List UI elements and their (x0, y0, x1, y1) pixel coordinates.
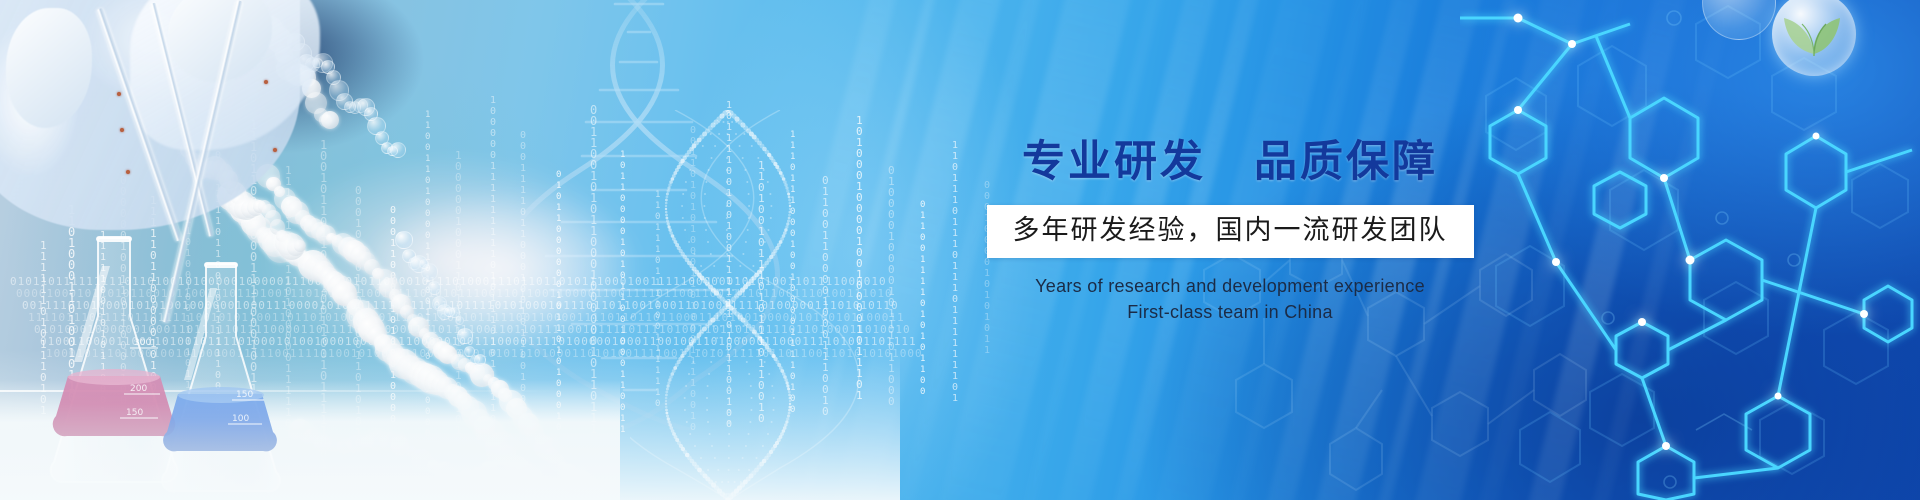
pipette-bead (273, 148, 277, 152)
bubble (395, 231, 412, 248)
blue-flask: 150 100 (148, 262, 296, 500)
bubble (455, 316, 464, 325)
graduation-200: 200 (130, 384, 147, 394)
page-title: 专业研发 品质保障 (880, 138, 1580, 187)
leaf-badge (1772, 0, 1856, 76)
binary-column: 1 0 1 1 1 1 0 0 1 0 0 1 0 0 1 1 1 1 1 1 … (726, 100, 733, 430)
binary-column: 1 0 1 1 0 0 0 0 1 0 1 0 1 1 0 0 1 0 0 0 … (620, 150, 626, 436)
dna-helix-particles-icon (630, 110, 860, 500)
headline-part-1: 专业研发 (1022, 138, 1206, 186)
pipette-bead (117, 92, 121, 96)
hero-text-block: 专业研发 品质保障 多年研发经验，国内一流研发团队 Years of resea… (880, 138, 1580, 325)
pipette-bead (120, 128, 124, 132)
bubble (457, 328, 473, 344)
bubble (474, 354, 486, 366)
subtitle-box: 多年研发经验，国内一流研发团队 (987, 205, 1474, 257)
bubble-decor (1702, 0, 1776, 40)
bubble (390, 142, 407, 159)
binary-column: 0 0 1 1 0 1 0 1 0 1 0 0 0 1 1 0 1 0 0 0 … (690, 125, 697, 433)
headline-part-2: 品质保障 (1254, 138, 1438, 186)
subtitle-text: 多年研发经验，国内一流研发团队 (1013, 214, 1448, 246)
binary-column: 1 1 0 1 0 0 1 0 1 1 1 0 1 0 1 1 1 0 1 1 … (758, 160, 766, 424)
dna-helix-icon (520, 0, 780, 430)
bubble (428, 281, 441, 294)
binary-column: 1 1 1 0 1 1 1 0 0 0 1 0 0 1 0 0 0 0 1 1 … (790, 130, 796, 416)
binary-column: 0 1 1 0 0 1 1 0 0 0 0 1 0 0 0 1 1 1 0 0 … (822, 175, 830, 417)
binary-column: 1 0 1 0 0 0 1 0 0 0 0 1 0 0 1 0 0 0 0 1 … (856, 115, 864, 401)
graduation-150: 150 (126, 408, 143, 418)
pipette-bead (126, 170, 130, 174)
english-line-1: Years of research and development experi… (880, 273, 1580, 299)
graduation-150: 150 (236, 390, 253, 400)
pipette-bead (264, 80, 268, 84)
graduation-100: 100 (232, 414, 249, 424)
pearl-bead (321, 111, 340, 130)
bubble (421, 263, 439, 281)
english-line-2: First-class team in China (880, 299, 1580, 325)
english-tagline: Years of research and development experi… (880, 273, 1580, 325)
binary-column: 1 1 0 1 1 1 0 1 1 1 1 0 0 1 1 1 1 1 1 0 (655, 190, 661, 410)
hero-banner: 0 0 0 0 0 0 1 0 0 1 1 0 1 1 0 0 0 0 1 0 … (0, 0, 1920, 500)
leaf-icon (1772, 0, 1856, 76)
